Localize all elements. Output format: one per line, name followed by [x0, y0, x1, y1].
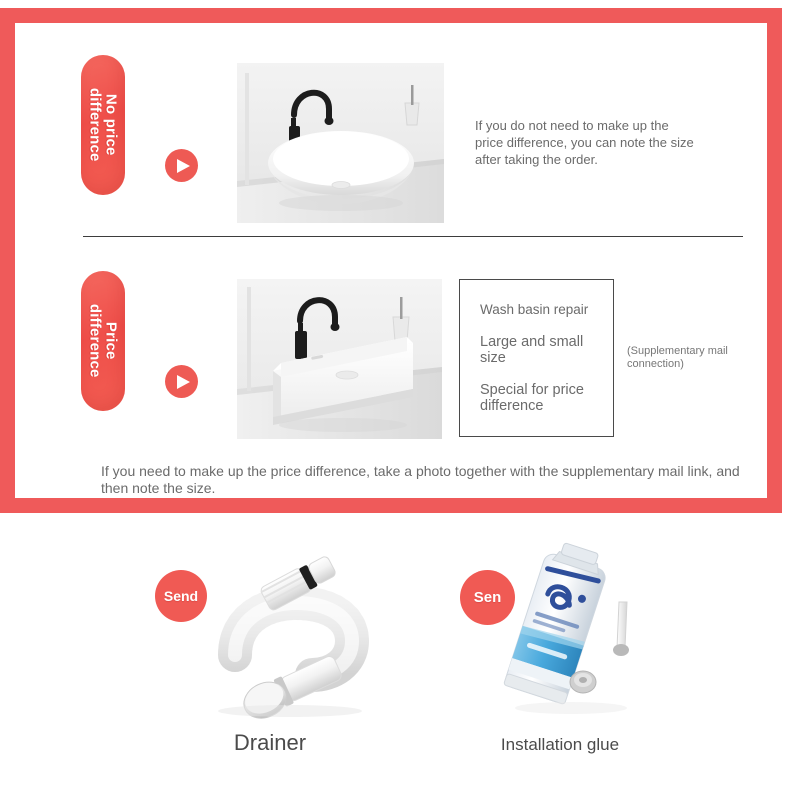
info-line-1: Wash basin repair: [480, 302, 600, 318]
triangle-glyph: [177, 375, 190, 389]
supplementary-note: (Supplementary mail connection): [627, 345, 737, 371]
info-line-3: Special for price difference: [480, 382, 600, 414]
product-caption: Drainer: [140, 730, 400, 756]
send-badge: Send: [155, 570, 207, 622]
drain-hose-photo: [180, 545, 395, 725]
pill-label-line1: No price: [103, 88, 119, 162]
triangle-glyph: [177, 159, 190, 173]
info-line-2: Large and small size: [480, 334, 600, 366]
send-badge: Sen: [460, 570, 515, 625]
pill-label-line1: Price: [103, 304, 119, 378]
pill-label-no-price-difference: No price difference: [81, 55, 125, 195]
play-arrow-icon: [165, 149, 198, 182]
info-box: Wash basin repair Large and small size S…: [459, 279, 614, 437]
pill-label-line2: difference: [87, 88, 103, 162]
bottom-description: If you need to make up the price differe…: [101, 463, 751, 497]
rectangular-basin-photo: [237, 279, 442, 439]
product-caption: Installation glue: [440, 735, 680, 755]
pill-label-line2: difference: [87, 304, 103, 378]
pill-label-price-difference: Price difference: [81, 271, 125, 411]
product-section: Send: [0, 525, 800, 800]
promo-frame: No price difference: [0, 8, 782, 513]
play-arrow-icon: [165, 365, 198, 398]
row-no-price-difference: No price difference: [15, 45, 767, 225]
section-divider: [83, 236, 743, 237]
row1-description: If you do not need to make up the price …: [475, 117, 697, 168]
oval-basin-photo: [237, 63, 444, 223]
glue-tube-photo: [475, 540, 655, 725]
